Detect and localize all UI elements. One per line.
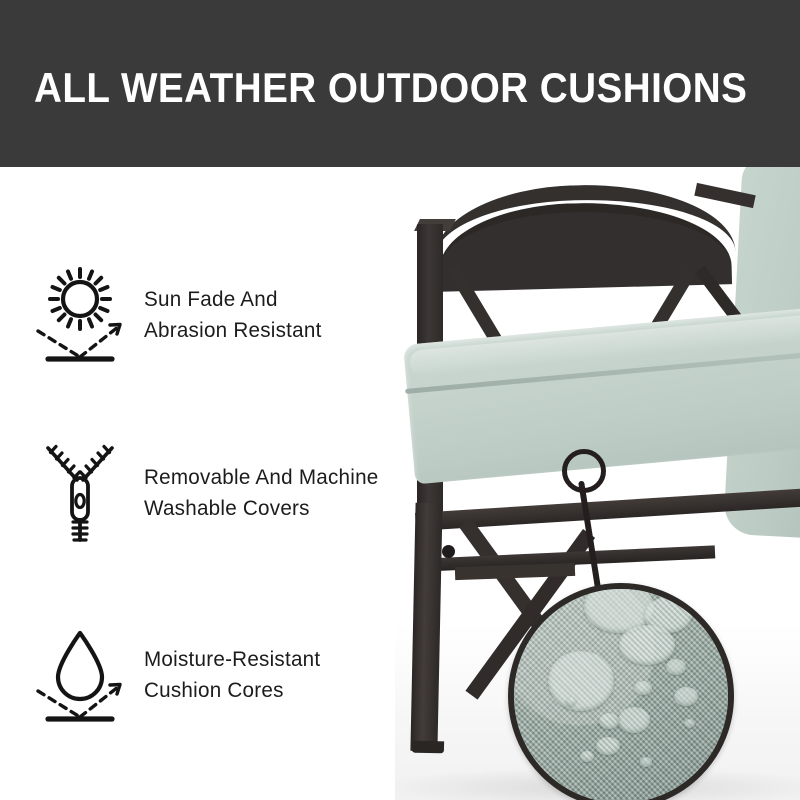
chair-bolt — [442, 545, 455, 558]
water-bead — [640, 757, 652, 767]
zipper-icon — [30, 440, 130, 545]
water-bead — [618, 707, 650, 733]
water-bead — [674, 687, 698, 706]
water-bead — [596, 737, 620, 755]
chair-front-leg — [410, 503, 442, 752]
water-bead — [580, 751, 594, 762]
feature-item-sun-fade: Sun Fade And Abrasion Resistant — [30, 262, 430, 367]
water-bead — [684, 719, 695, 728]
feature-label-moisture-resistant: Moisture-Resistant Cushion Cores — [144, 644, 320, 705]
sun-fade-icon — [30, 262, 130, 367]
promo-banner: ALL WEATHER OUTDOOR CUSHIONS — [0, 0, 800, 800]
feature-item-moisture-resistant: Moisture-Resistant Cushion Cores — [30, 622, 430, 727]
product-photo — [395, 167, 800, 800]
water-bead — [599, 713, 619, 729]
water-bead — [619, 625, 675, 665]
page-title: ALL WEATHER OUTDOOR CUSHIONS — [34, 64, 747, 112]
water-bead — [566, 697, 576, 706]
magnified-fabric-detail — [508, 583, 734, 800]
water-bead — [666, 659, 686, 675]
feature-label-sun-fade: Sun Fade And Abrasion Resistant — [144, 284, 322, 345]
water-droplet-icon — [30, 622, 130, 727]
feature-item-removable-covers: Removable And Machine Washable Covers — [30, 440, 430, 545]
water-bead — [634, 681, 652, 695]
callout-ring-marker — [562, 449, 606, 493]
feature-label-removable-covers: Removable And Machine Washable Covers — [144, 462, 379, 523]
header-band: ALL WEATHER OUTDOOR CUSHIONS — [0, 0, 800, 167]
water-bead — [548, 651, 614, 711]
chair-leg-foot — [412, 741, 444, 754]
